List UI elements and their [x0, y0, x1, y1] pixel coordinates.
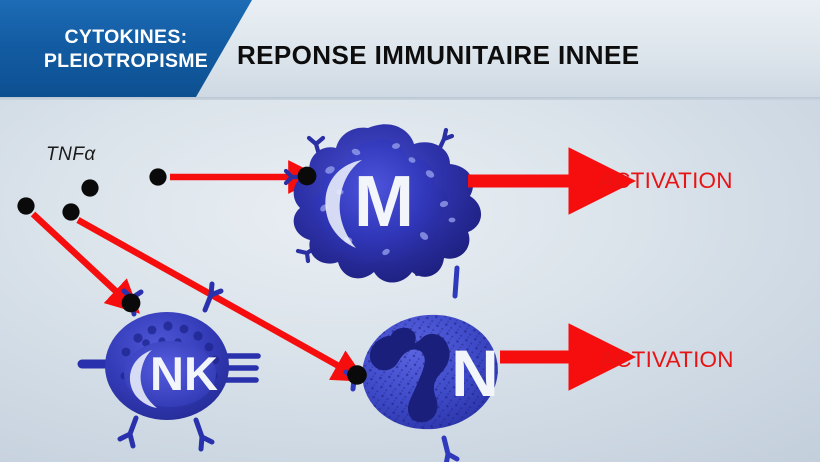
signal-arrow-nk [33, 214, 121, 296]
macrophage-letter: M [354, 162, 414, 242]
receptor-dot-macrophage [298, 167, 317, 186]
slide-header: CYTOKINES: PLEIOTROPISME REPONSE IMMUNIT… [0, 0, 820, 97]
cytokine-dot [81, 179, 98, 196]
cell-neutrophil: N [346, 268, 504, 462]
banner-line-2: PLEIOTROPISME [31, 49, 221, 73]
banner-line-1: CYTOKINES: [31, 25, 221, 49]
cytokine-dot-group [17, 168, 166, 220]
receptor-dot-nk [122, 294, 141, 313]
cytokine-dot [62, 203, 79, 220]
cytokine-dot [149, 168, 166, 185]
cytokine-dot [17, 197, 34, 214]
cell-macrophage: M [286, 124, 481, 282]
immune-response-diagram: M [0, 100, 820, 462]
cytokine-label: TNFα [46, 144, 96, 166]
activation-label-neutrophil: ACTIVATION [600, 347, 734, 373]
diagram-stage: M [0, 100, 820, 462]
activation-label-macrophage: ACTIVATION [599, 168, 733, 194]
header-banner: CYTOKINES: PLEIOTROPISME [0, 0, 252, 97]
slide-canvas: CYTOKINES: PLEIOTROPISME REPONSE IMMUNIT… [0, 0, 820, 462]
activation-arrow-group [468, 181, 584, 357]
neutrophil-letter: N [451, 336, 499, 410]
receptor-dot-neutrophil [347, 365, 367, 385]
nk-letter: NK [150, 347, 218, 400]
page-title: REPONSE IMMUNITAIRE INNEE [237, 40, 639, 71]
